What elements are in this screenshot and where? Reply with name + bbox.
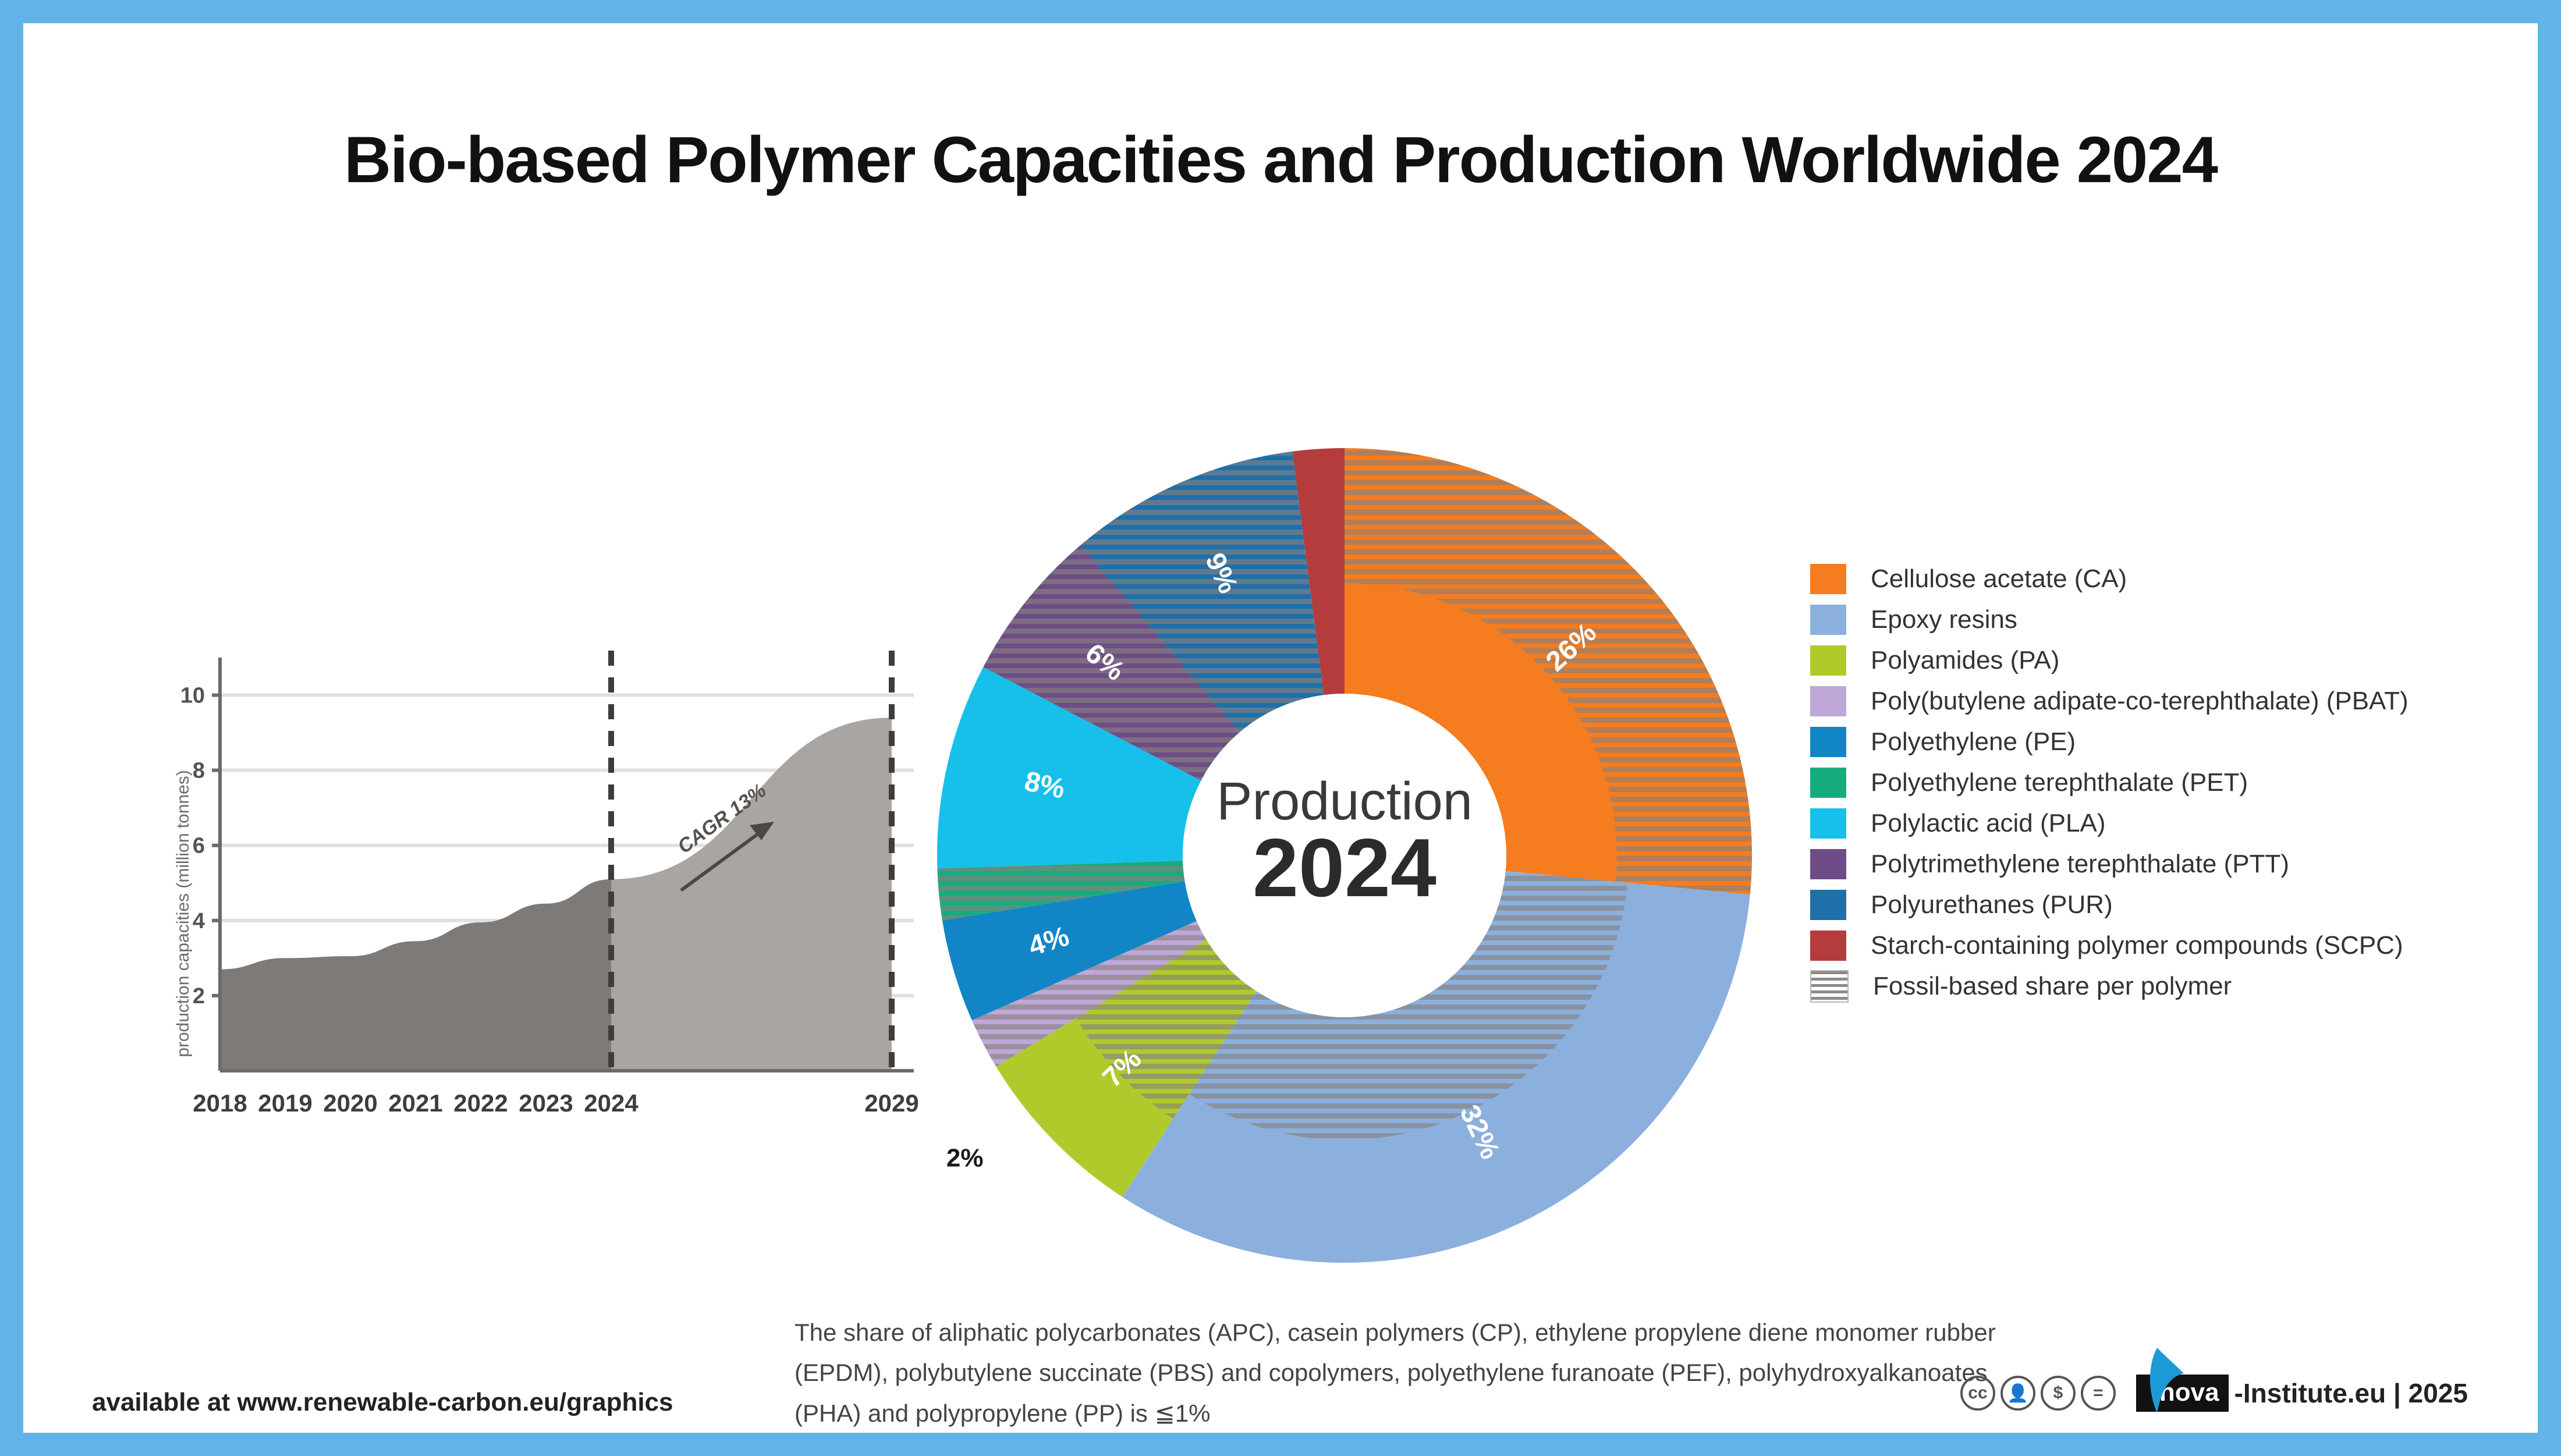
x-tick-label: 2018 bbox=[193, 1089, 247, 1117]
page-title: Bio-based Polymer Capacities and Product… bbox=[23, 122, 2538, 197]
legend-item[interactable]: Polyurethanes (PUR) bbox=[1810, 885, 2538, 925]
nova-flag-icon bbox=[2140, 1348, 2186, 1413]
legend-swatch bbox=[1810, 890, 1846, 920]
legend-label: Poly(butylene adipate-co-terephthalate) … bbox=[1871, 687, 2409, 716]
poster-border: Bio-based Polymer Capacities and Product… bbox=[0, 0, 2561, 1456]
brand-bar: cc 👤 $ = nova -Institute.eu | 2025 bbox=[1960, 1375, 2468, 1412]
legend-item[interactable]: Polylactic acid (PLA) bbox=[1810, 803, 2538, 844]
footnote: The share of aliphatic polycarbonates (A… bbox=[794, 1312, 2046, 1433]
x-tick-label: 2021 bbox=[388, 1089, 442, 1117]
legend-swatch bbox=[1810, 808, 1846, 839]
legend-label: Polyethylene (PE) bbox=[1871, 727, 2076, 757]
y-tick-label: 10 bbox=[180, 684, 205, 708]
legend-label: Fossil-based share per polymer bbox=[1873, 972, 2232, 1001]
legend-item[interactable]: Polyamides (PA) bbox=[1810, 640, 2538, 681]
legend-swatch bbox=[1810, 849, 1846, 879]
legend-label: Polytrimethylene terephthalate (PTT) bbox=[1871, 850, 2289, 879]
poster-sheet: Bio-based Polymer Capacities and Product… bbox=[23, 23, 2538, 1433]
y-tick-label: 2 bbox=[193, 984, 205, 1008]
legend-swatch bbox=[1810, 931, 1846, 961]
legend-swatch bbox=[1810, 768, 1846, 798]
area-chart: 246810 20182019202020212022202320242029 … bbox=[157, 640, 925, 1164]
legend-item[interactable]: Poly(butylene adipate-co-terephthalate) … bbox=[1810, 681, 2538, 722]
legend-item[interactable]: Cellulose acetate (CA) bbox=[1810, 559, 2538, 599]
nd-icon: = bbox=[2081, 1376, 2116, 1411]
availability-note: available at www.renewable-carbon.eu/gra… bbox=[92, 1388, 673, 1417]
legend-label: Polyethylene terephthalate (PET) bbox=[1871, 768, 2248, 797]
legend-item[interactable]: Polyethylene terephthalate (PET) bbox=[1810, 762, 2538, 803]
donut-center-year: 2024 bbox=[1253, 822, 1436, 914]
x-tick-label: 2019 bbox=[258, 1089, 312, 1117]
x-tick-label: 2022 bbox=[453, 1089, 508, 1117]
legend-label: Epoxy resins bbox=[1871, 605, 2017, 634]
legend-label: Polyamides (PA) bbox=[1871, 646, 2059, 675]
nova-tail-text: -Institute.eu | 2025 bbox=[2234, 1377, 2468, 1409]
x-tick-label: 2023 bbox=[519, 1089, 573, 1117]
legend: Cellulose acetate (CA)Epoxy resinsPolyam… bbox=[1810, 559, 2538, 1007]
legend-label: Cellulose acetate (CA) bbox=[1871, 564, 2127, 594]
x-tick-label: 2024 bbox=[584, 1089, 639, 1117]
y-tick-label: 4 bbox=[193, 909, 205, 933]
legend-item[interactable]: Epoxy resins bbox=[1810, 599, 2538, 640]
y-tick-label: 6 bbox=[193, 834, 205, 858]
legend-item[interactable]: Polytrimethylene terephthalate (PTT) bbox=[1810, 844, 2538, 885]
donut-chart: Production 2024 26%32%7%4%8%6%9% 2%2%2% bbox=[885, 431, 1804, 1304]
cc-icon: cc bbox=[1960, 1376, 1995, 1411]
legend-swatch bbox=[1810, 605, 1846, 635]
legend-swatch bbox=[1810, 970, 1849, 1003]
y-axis-label: production capacities (million tonnes) bbox=[173, 770, 193, 1057]
legend-swatch bbox=[1810, 686, 1846, 716]
nova-logo: nova bbox=[2136, 1375, 2229, 1412]
legend-swatch bbox=[1810, 564, 1846, 594]
nc-icon: $ bbox=[2041, 1376, 2076, 1411]
x-tick-label: 2020 bbox=[323, 1089, 377, 1117]
by-icon: 👤 bbox=[2000, 1376, 2035, 1411]
y-tick-label: 8 bbox=[193, 759, 205, 783]
legend-label: Polylactic acid (PLA) bbox=[1871, 809, 2105, 838]
legend-label: Starch-containing polymer compounds (SCP… bbox=[1871, 931, 2403, 960]
donut-outside-label: 2% bbox=[946, 1144, 984, 1173]
legend-swatch bbox=[1810, 727, 1846, 757]
legend-item[interactable]: Polyethylene (PE) bbox=[1810, 722, 2538, 762]
legend-item[interactable]: Starch-containing polymer compounds (SCP… bbox=[1810, 925, 2538, 966]
legend-item[interactable]: Fossil-based share per polymer bbox=[1810, 966, 2538, 1007]
legend-swatch bbox=[1810, 645, 1846, 676]
legend-label: Polyurethanes (PUR) bbox=[1871, 890, 2113, 919]
